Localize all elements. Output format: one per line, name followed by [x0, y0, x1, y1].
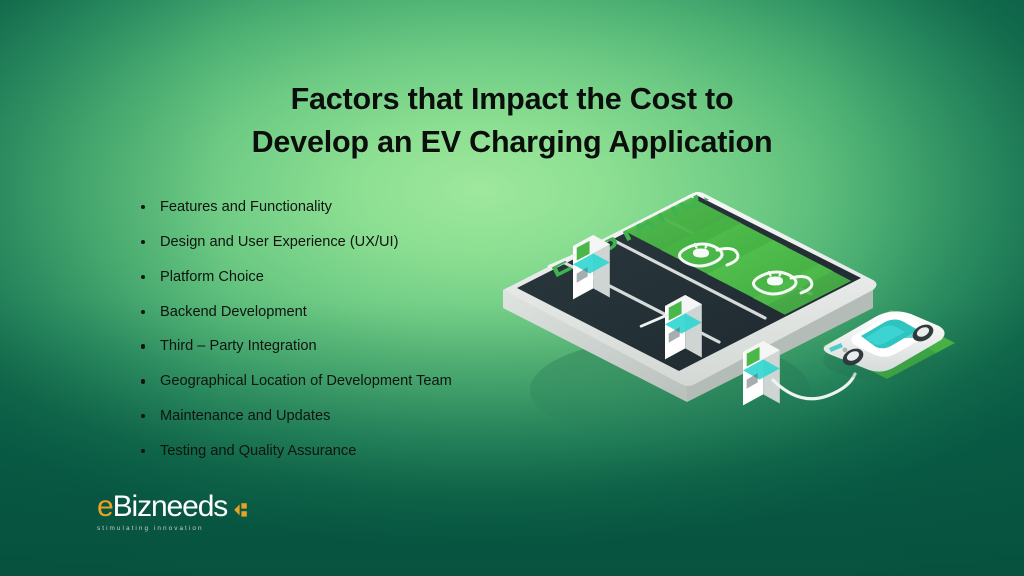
- logo-wordmark: eBizneeds: [97, 492, 227, 522]
- logo-text: eBizneeds stimulating innovation: [97, 492, 227, 532]
- slide-canvas: EV STATION: [0, 0, 1024, 576]
- list-item: Backend Development: [138, 303, 558, 322]
- bullet-dot-icon: [141, 205, 145, 209]
- list-item: Maintenance and Updates: [138, 407, 558, 426]
- page-title: Factors that Impact the Cost to Develop …: [0, 78, 1024, 165]
- bullet-dot-icon: [141, 275, 145, 279]
- list-item: Design and User Experience (UX/UI): [138, 233, 558, 252]
- logo-prefix: e: [97, 490, 113, 523]
- bullet-dot-icon: [141, 344, 145, 348]
- list-item-label: Testing and Quality Assurance: [160, 443, 356, 459]
- list-item: Geographical Location of Development Tea…: [138, 372, 558, 391]
- list-item: Features and Functionality: [138, 198, 558, 217]
- list-item: Third – Party Integration: [138, 337, 558, 356]
- list-item: Testing and Quality Assurance: [138, 442, 558, 461]
- list-item-label: Platform Choice: [160, 269, 264, 285]
- network-share-icon: [231, 501, 249, 519]
- bullet-dot-icon: [141, 379, 145, 383]
- bullet-dot-icon: [141, 449, 145, 453]
- page-title-line-2: Develop an EV Charging Application: [0, 121, 1024, 164]
- list-item: Platform Choice: [138, 268, 558, 287]
- bullet-dot-icon: [141, 240, 145, 244]
- bullet-dot-icon: [141, 414, 145, 418]
- list-item-label: Features and Functionality: [160, 199, 332, 215]
- list-item-label: Maintenance and Updates: [160, 408, 330, 424]
- logo-word: Bizneeds: [113, 490, 228, 523]
- list-item-label: Backend Development: [160, 304, 307, 320]
- list-item-label: Geographical Location of Development Tea…: [160, 373, 452, 389]
- page-title-line-1: Factors that Impact the Cost to: [0, 78, 1024, 121]
- list-item-label: Third – Party Integration: [160, 338, 317, 354]
- factors-list: Features and Functionality Design and Us…: [138, 198, 558, 477]
- list-item-label: Design and User Experience (UX/UI): [160, 234, 398, 250]
- bullet-dot-icon: [141, 310, 145, 314]
- ebizneeds-logo: eBizneeds stimulating innovation: [97, 492, 249, 532]
- logo-tagline: stimulating innovation: [97, 525, 227, 532]
